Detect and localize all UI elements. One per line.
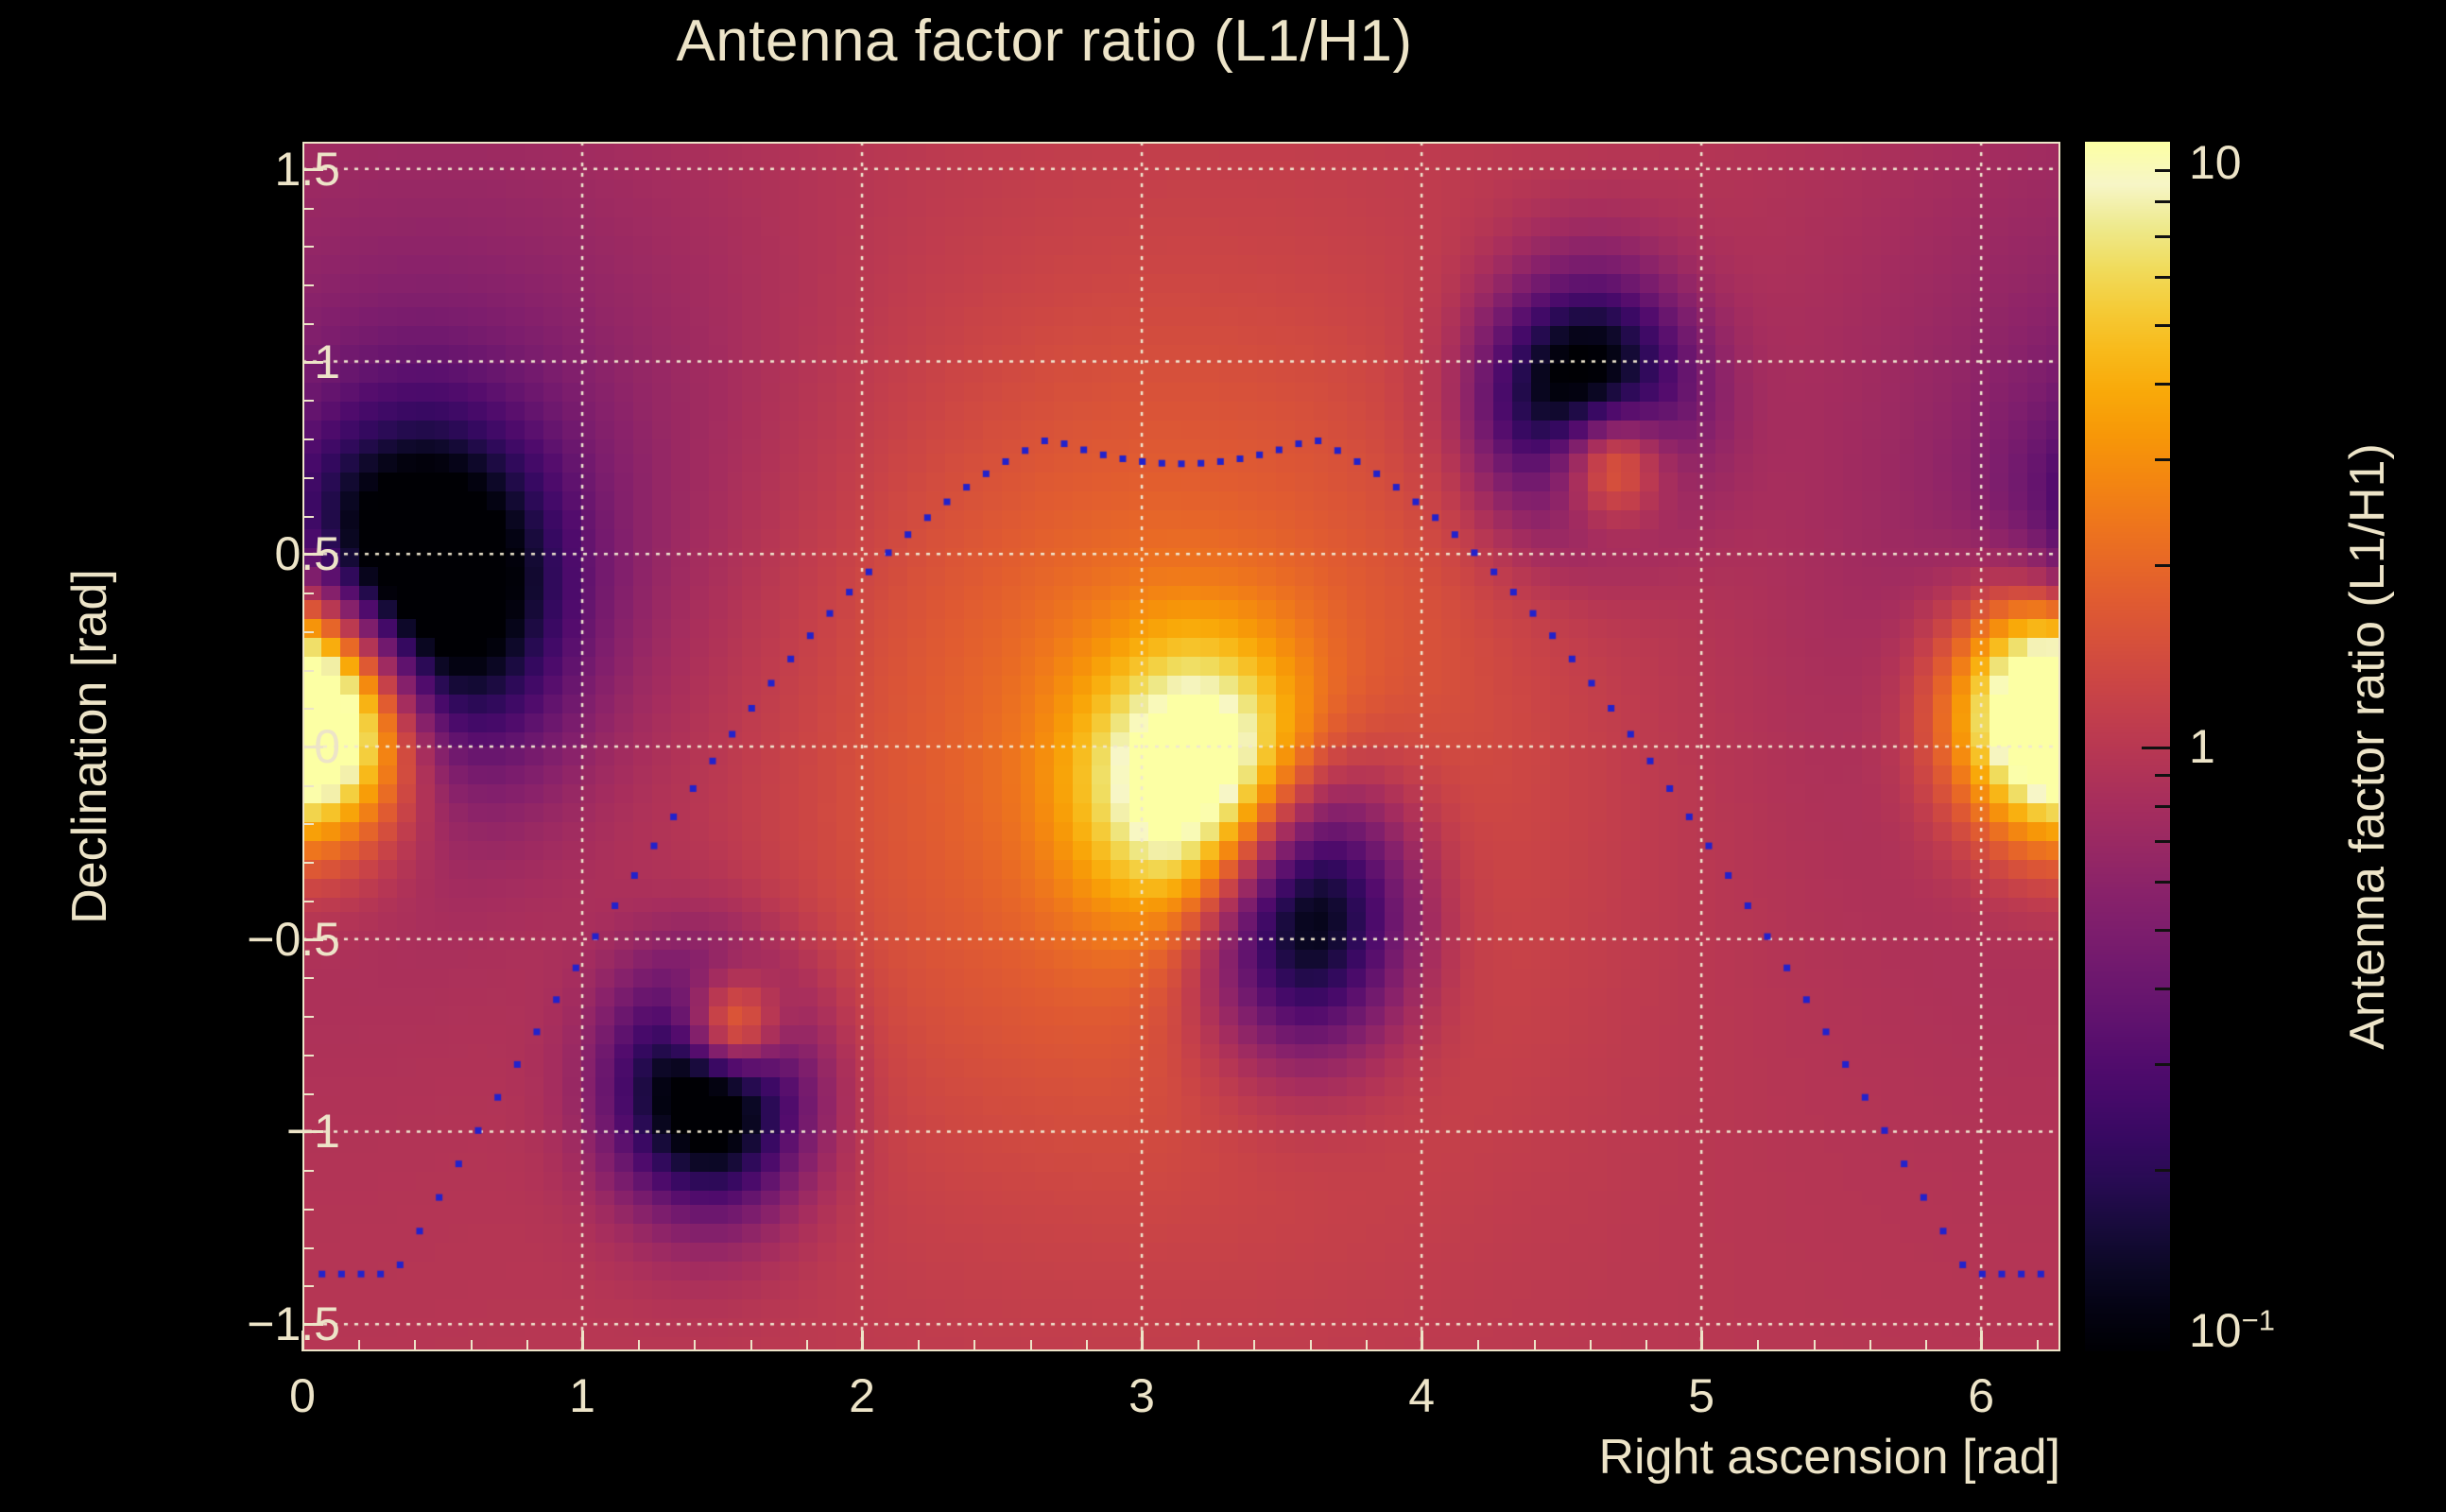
y-axis-tick-mark	[302, 553, 323, 556]
y-axis-minor-tick	[302, 1285, 314, 1287]
x-axis-tick-label: 1	[569, 1368, 595, 1423]
x-axis-minor-tick	[1310, 1340, 1312, 1351]
y-axis-minor-tick	[302, 1209, 314, 1211]
y-axis-tick-mark	[302, 1130, 323, 1133]
y-axis-minor-tick	[302, 670, 314, 672]
x-axis-minor-tick	[973, 1340, 975, 1351]
x-axis-tick-label: 2	[849, 1368, 875, 1423]
x-axis-minor-tick	[526, 1340, 528, 1351]
x-axis-minor-tick	[471, 1340, 473, 1351]
figure-root: Antenna factor ratio (L1/H1) 1.510.50−0.…	[0, 0, 2446, 1512]
x-axis-minor-tick	[1814, 1340, 1816, 1351]
y-axis-minor-tick	[302, 208, 314, 210]
y-axis-tick-mark	[302, 746, 323, 748]
x-axis-minor-tick	[1366, 1340, 1368, 1351]
y-axis-minor-tick	[302, 1247, 314, 1249]
y-axis-minor-tick	[302, 631, 314, 633]
y-axis-minor-tick	[302, 593, 314, 594]
y-axis-tick-mark	[302, 361, 323, 364]
x-axis-minor-tick	[694, 1340, 696, 1351]
x-axis-tick-label: 3	[1128, 1368, 1155, 1423]
y-axis-tick-mark	[302, 168, 323, 171]
x-axis-minor-tick	[1590, 1340, 1592, 1351]
x-axis-minor-tick	[2037, 1340, 2039, 1351]
colorbar-tick-label: 1	[2189, 719, 2215, 774]
x-axis-minor-tick	[1197, 1340, 1199, 1351]
x-axis-minor-tick	[638, 1340, 640, 1351]
y-axis-minor-tick	[302, 862, 314, 864]
y-axis-minor-tick	[302, 977, 314, 979]
y-axis-minor-tick	[302, 246, 314, 248]
x-axis-minor-tick	[414, 1340, 416, 1351]
x-axis-minor-tick	[750, 1340, 752, 1351]
y-axis-minor-tick	[302, 785, 314, 787]
x-axis-minor-tick	[1869, 1340, 1871, 1351]
y-axis-title: Declination [rad]	[57, 142, 123, 1351]
y-axis-minor-tick	[302, 708, 314, 710]
x-axis-tick-label: 4	[1408, 1368, 1435, 1423]
y-axis-tick-label: −1	[286, 1104, 361, 1159]
x-axis-minor-tick	[1477, 1340, 1479, 1351]
y-axis-minor-tick	[302, 400, 314, 402]
x-axis-tick-mark	[1141, 1331, 1144, 1351]
x-axis-minor-tick	[806, 1340, 808, 1351]
colorbar-tick-label: 10−1	[2189, 1303, 2275, 1358]
y-axis-minor-tick	[302, 323, 314, 325]
x-axis-minor-tick	[1925, 1340, 1927, 1351]
y-axis-tick-mark	[302, 1323, 323, 1326]
x-axis-minor-tick	[1086, 1340, 1088, 1351]
x-axis-minor-tick	[1030, 1340, 1032, 1351]
x-axis-tick-mark	[301, 1331, 304, 1351]
y-axis-minor-tick	[302, 477, 314, 479]
colorbar-title: Antenna factor ratio (L1/H1)	[2334, 142, 2401, 1351]
y-axis-minor-tick	[302, 1016, 314, 1018]
heatmap-plot-area[interactable]	[302, 142, 2060, 1351]
x-axis-tick-label: 0	[289, 1368, 316, 1423]
x-axis-tick-mark	[581, 1331, 584, 1351]
y-axis-minor-tick	[302, 1170, 314, 1172]
y-axis-minor-tick	[302, 1093, 314, 1095]
x-axis-tick-mark	[1421, 1331, 1423, 1351]
x-axis-minor-tick	[918, 1340, 920, 1351]
x-axis-tick-mark	[1700, 1331, 1703, 1351]
y-axis-minor-tick	[302, 823, 314, 825]
x-axis-tick-mark	[861, 1331, 864, 1351]
x-axis-minor-tick	[1757, 1340, 1759, 1351]
x-axis-minor-tick	[358, 1340, 360, 1351]
colorbar-tick-label: 10	[2189, 135, 2242, 190]
x-axis-tick-label: 6	[1968, 1368, 1994, 1423]
x-axis-minor-tick	[1534, 1340, 1536, 1351]
x-axis-minor-tick	[1253, 1340, 1255, 1351]
y-axis-minor-tick	[302, 516, 314, 518]
galactic-plane-overlay	[302, 142, 2060, 1351]
page-title: Antenna factor ratio (L1/H1)	[0, 8, 2089, 75]
y-axis-minor-tick	[302, 284, 314, 286]
y-axis-minor-tick	[302, 901, 314, 902]
y-axis-minor-tick	[302, 1055, 314, 1057]
x-axis-tick-label: 5	[1688, 1368, 1714, 1423]
x-axis-title: Right ascension [rad]	[1115, 1429, 2060, 1486]
colorbar-gradient	[2085, 142, 2170, 1351]
x-axis-minor-tick	[1645, 1340, 1647, 1351]
x-axis-tick-mark	[1980, 1331, 1983, 1351]
y-axis-tick-mark	[302, 938, 323, 941]
colorbar[interactable]	[2085, 142, 2170, 1351]
y-axis-minor-tick	[302, 438, 314, 440]
